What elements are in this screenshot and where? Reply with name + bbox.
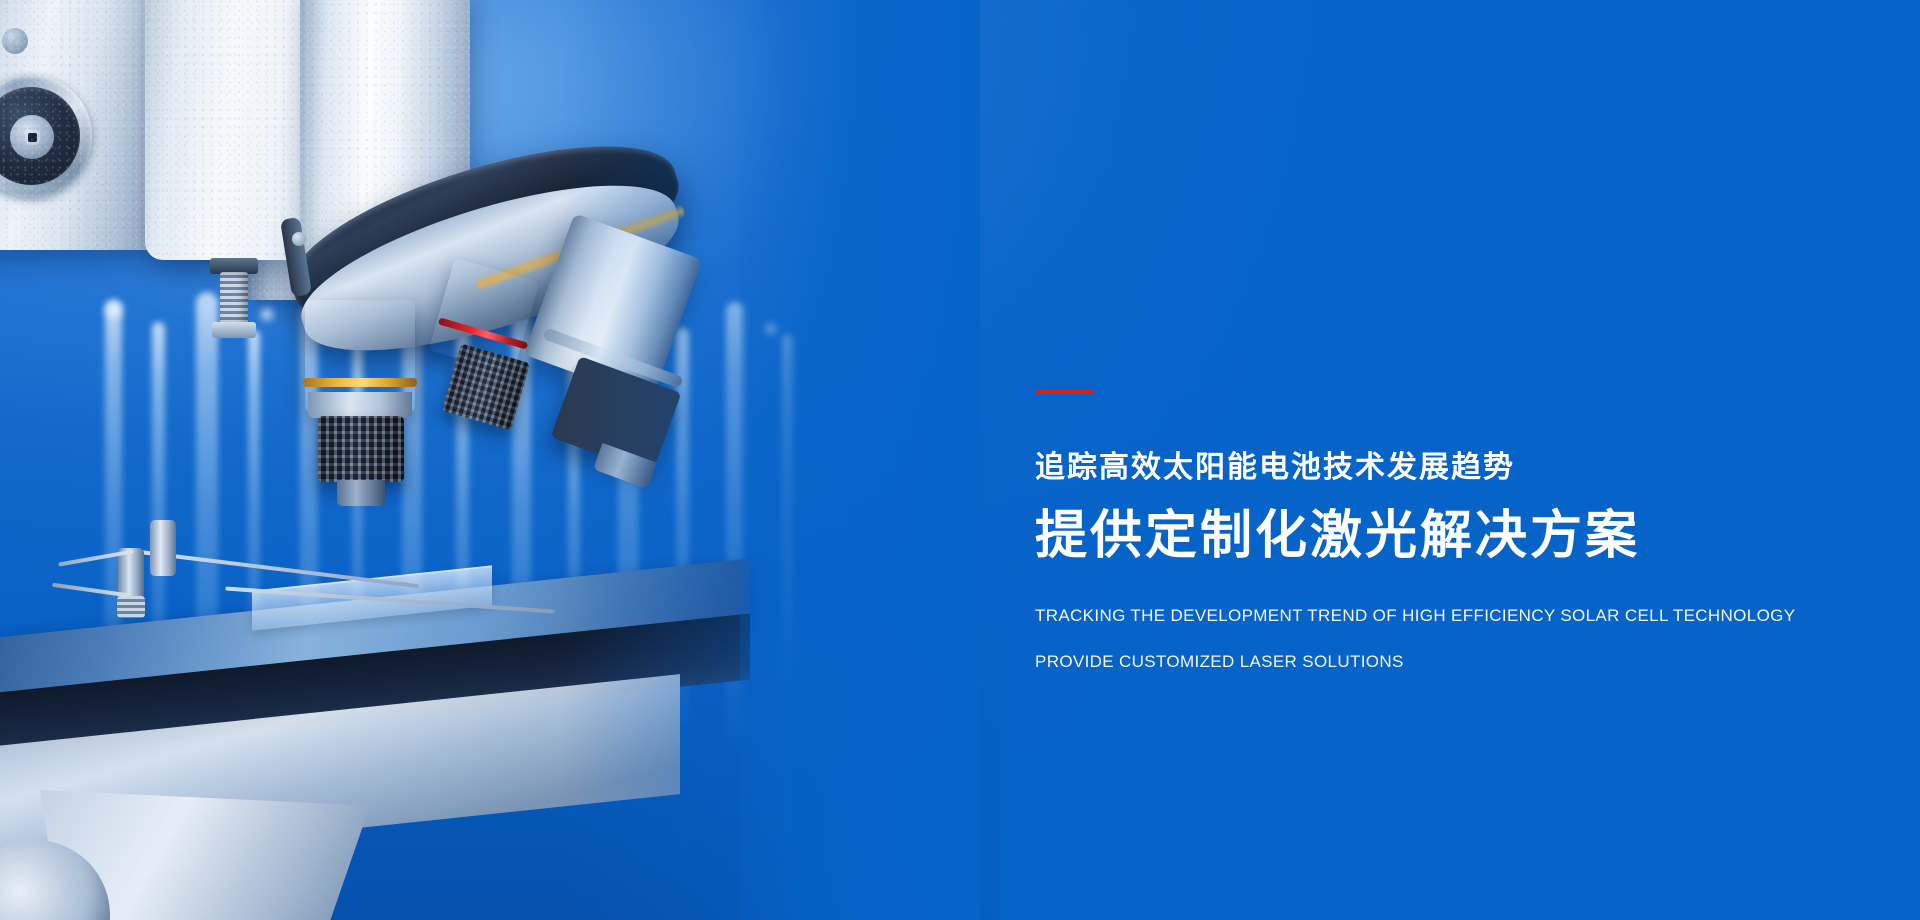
focus-knob-inner bbox=[0, 87, 80, 185]
stage-clip-lever-lower bbox=[52, 583, 128, 598]
stage-clip-knob bbox=[117, 596, 145, 618]
turret-clip-screw bbox=[292, 232, 306, 246]
hero-copy: 追踪高效太阳能电池技术发展趋势 提供定制化激光解决方案 TRACKING THE… bbox=[1035, 390, 1855, 670]
accent-rule bbox=[1035, 390, 1093, 394]
hero-headline: 提供定制化激光解决方案 bbox=[1035, 506, 1855, 567]
hero-banner: 追踪高效太阳能电池技术发展趋势 提供定制化激光解决方案 TRACKING THE… bbox=[0, 0, 1920, 920]
hero-kicker: 追踪高效太阳能电池技术发展趋势 bbox=[1035, 450, 1855, 486]
hero-english-line-2: PROVIDE CUSTOMIZED LASER SOLUTIONS bbox=[1035, 653, 1855, 670]
hero-english-line-1: TRACKING THE DEVELOPMENT TREND OF HIGH E… bbox=[1035, 607, 1855, 624]
arm-screw bbox=[2, 28, 28, 54]
objective-lens-front-knurl bbox=[318, 416, 404, 482]
thumbscrew-foot bbox=[212, 322, 256, 338]
phillips-screw-icon bbox=[28, 133, 37, 142]
objective-lens-front-tip bbox=[337, 480, 385, 506]
objective-lens-front-skirt bbox=[308, 392, 412, 418]
stage-clip-post bbox=[150, 520, 176, 576]
focus-knob-outer bbox=[0, 75, 92, 197]
thumbscrew-shaft bbox=[220, 272, 248, 324]
objective-lens-gold-ring bbox=[303, 378, 417, 387]
